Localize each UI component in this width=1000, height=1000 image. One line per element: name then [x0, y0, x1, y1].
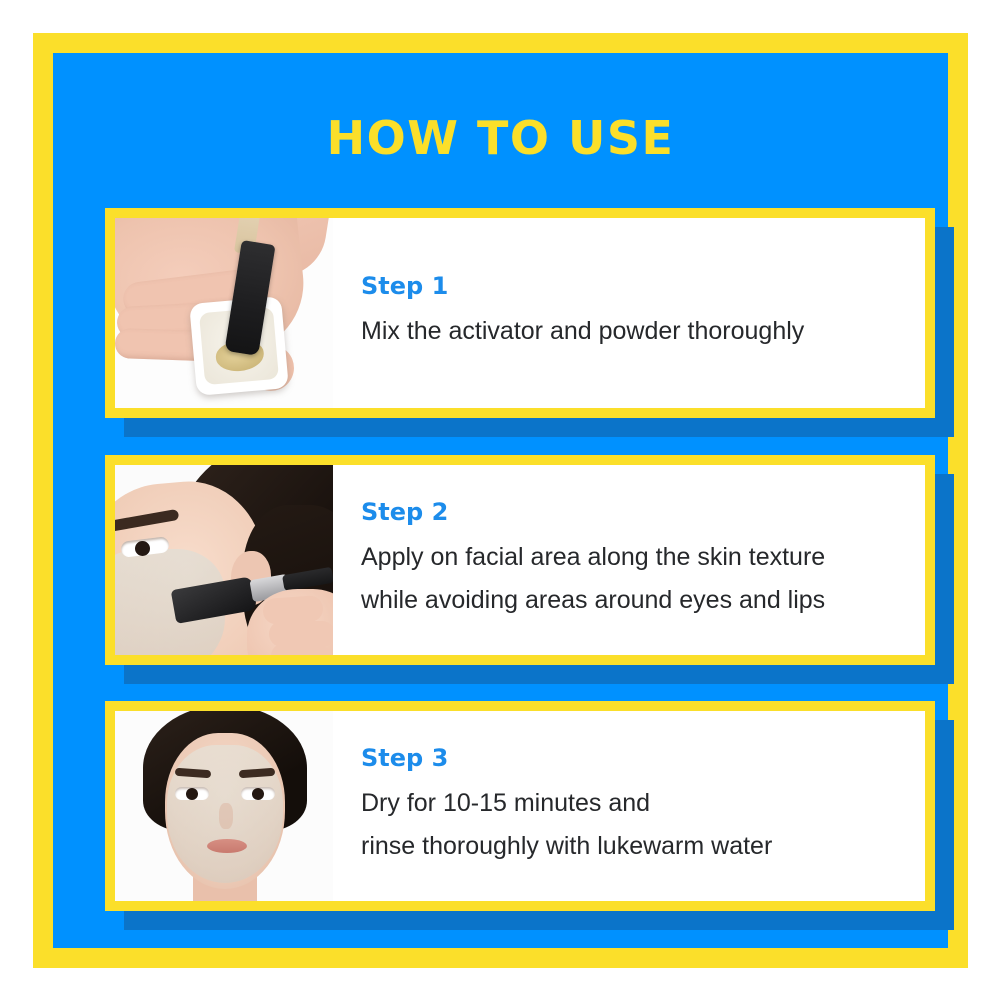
step-2-line-1: Apply on facial area along the skin text… — [361, 536, 925, 579]
outer-yellow-frame: HOW TO USE — [33, 33, 968, 968]
card-inner-3: Step 3 Dry for 10-15 minutes and rinse t… — [115, 711, 925, 901]
step-3-text: Step 3 Dry for 10-15 minutes and rinse t… — [333, 711, 925, 901]
step-1-body: Mix the activator and powder thoroughly — [361, 310, 925, 353]
pupil-shape — [135, 541, 150, 556]
card-inner-2: Step 2 Apply on facial area along the sk… — [115, 465, 925, 655]
page-title: HOW TO USE — [53, 115, 948, 161]
step-2-text: Step 2 Apply on facial area along the sk… — [333, 465, 925, 655]
step-1-photo — [115, 218, 333, 408]
step-2-illustration — [115, 465, 333, 655]
pupil-shape — [186, 788, 198, 800]
card-2: Step 2 Apply on facial area along the sk… — [105, 455, 935, 665]
card-inner-1: Step 1 Mix the activator and powder thor… — [115, 218, 925, 408]
step-3-body: Dry for 10-15 minutes and rinse thorough… — [361, 782, 925, 867]
step-1-illustration — [115, 218, 333, 408]
blue-panel: HOW TO USE — [53, 53, 948, 948]
card-1: Step 1 Mix the activator and powder thor… — [105, 208, 935, 418]
step-2-photo — [115, 465, 333, 655]
step-3-photo — [115, 711, 333, 901]
how-to-use-poster: HOW TO USE — [0, 0, 1000, 1000]
step-1-label: Step 1 — [361, 273, 925, 299]
step-3-line-1: Dry for 10-15 minutes and — [361, 782, 925, 825]
step-2-body: Apply on facial area along the skin text… — [361, 536, 925, 621]
step-3-line-2: rinse thoroughly with lukewarm water — [361, 825, 925, 868]
step-3-label: Step 3 — [361, 745, 925, 771]
pupil-shape — [252, 788, 264, 800]
step-1-line-1: Mix the activator and powder thoroughly — [361, 310, 925, 353]
step-2-line-2: while avoiding areas around eyes and lip… — [361, 579, 925, 622]
finger-shape — [269, 621, 333, 647]
step-3-illustration — [115, 711, 333, 901]
step-1-text: Step 1 Mix the activator and powder thor… — [333, 218, 925, 408]
step-2-label: Step 2 — [361, 499, 925, 525]
lips-shape — [207, 839, 247, 853]
nose-shape — [219, 803, 233, 829]
card-3: Step 3 Dry for 10-15 minutes and rinse t… — [105, 701, 935, 911]
